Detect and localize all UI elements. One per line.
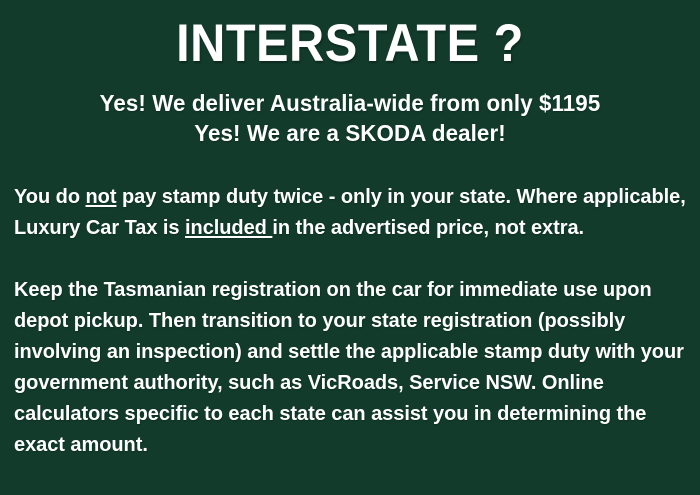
body-copy: You do not pay stamp duty twice - only i…: [14, 182, 686, 461]
paragraph-registration: Keep the Tasmanian registration on the c…: [14, 275, 686, 461]
page-title: INTERSTATE ?: [28, 14, 672, 74]
emphasis-included: included: [185, 217, 272, 239]
stamp-duty-text-part-1: You do: [14, 186, 86, 208]
subheading-dealer: Yes! We are a SKODA dealer!: [18, 118, 683, 148]
emphasis-not: not: [86, 186, 117, 208]
subheading-group: Yes! We deliver Australia-wide from only…: [0, 88, 700, 148]
stamp-duty-text-part-3: in the advertised price, not extra.: [272, 217, 584, 239]
subheading-delivery: Yes! We deliver Australia-wide from only…: [18, 88, 683, 118]
interstate-delivery-banner: INTERSTATE ? Yes! We deliver Australia-w…: [0, 0, 700, 495]
paragraph-stamp-duty: You do not pay stamp duty twice - only i…: [14, 182, 686, 244]
